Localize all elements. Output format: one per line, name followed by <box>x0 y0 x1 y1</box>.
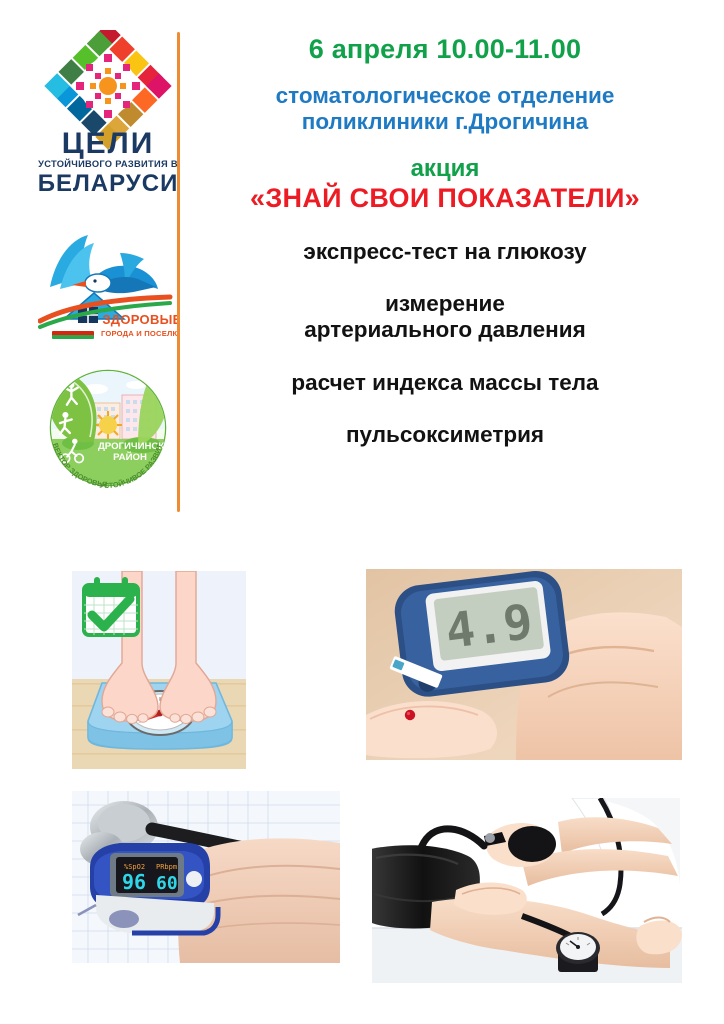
poster-text-column: 6 апреля 10.00-11.00 стоматологическое о… <box>190 34 700 448</box>
poster-page: ЦЕЛИ УСТОЙЧИВОГО РАЗВИТИЯ В БЕЛАРУСИ <box>0 0 724 1024</box>
logo-healthy-cities: ЗДОРОВЫЕ ГОРОДА И ПОСЕЛКИ <box>38 223 178 343</box>
venue-line-2: поликлиники г.Дрогичина <box>190 109 700 135</box>
logo-sdg-title-3: БЕЛАРУСИ <box>38 170 178 195</box>
vertical-divider <box>177 32 180 512</box>
sdg-belarus-emblem: ЦЕЛИ УСТОЙЧИВОГО РАЗВИТИЯ В БЕЛАРУСИ <box>38 30 178 195</box>
oximeter-pulse-value: 60 <box>156 873 178 894</box>
stork-icon <box>50 235 158 293</box>
oximeter-pulse-label: PRbpm <box>156 863 177 871</box>
photo-glucometer: 4.9 <box>366 569 682 760</box>
logo-region-title-2: РАЙОН <box>113 451 147 463</box>
logo-region-title-1: ДРОГИЧИНСКИЙ <box>98 440 178 452</box>
service-bp-line-1: измерение <box>190 291 700 317</box>
venue-line-1: стоматологическое отделение <box>190 83 700 109</box>
calendar-check-icon <box>84 577 138 635</box>
logo-healthy-title-2: ГОРОДА И ПОСЕЛКИ <box>101 329 178 338</box>
photo-grid: 4.9 <box>0 555 724 1024</box>
event-datetime: 6 апреля 10.00-11.00 <box>190 34 700 66</box>
service-oximetry: пульсоксиметрия <box>190 422 700 448</box>
glucometer-reading: 4.9 <box>443 594 536 660</box>
action-title: «ЗНАЙ СВОИ ПОКАЗАТЕЛИ» <box>190 183 700 215</box>
logo-sdg-title-1: ЦЕЛИ <box>62 127 155 160</box>
photo-pulse-oximeter: %SpO2 PRbpm 96 60 <box>72 791 340 963</box>
healthy-cities-emblem: ЗДОРОВЫЕ ГОРОДА И ПОСЕЛКИ <box>38 223 178 343</box>
action-label: акция <box>190 155 700 183</box>
photo-bmi-scale <box>72 571 246 769</box>
service-bmi: расчет индекса массы тела <box>190 370 700 396</box>
photo-blood-pressure <box>372 798 682 983</box>
poster-header: ЦЕЛИ УСТОЙЧИВОГО РАЗВИТИЯ В БЕЛАРУСИ <box>0 0 724 555</box>
logo-column: ЦЕЛИ УСТОЙЧИВОГО РАЗВИТИЯ В БЕЛАРУСИ <box>38 30 178 540</box>
service-glucose: экспресс-тест на глюкозу <box>190 239 700 265</box>
logo-drogichin-district: ДРОГИЧИНСКИЙ РАЙОН ВЕКТОР ЗДОРОВЬЯ УСТОЙ… <box>38 363 178 493</box>
logo-healthy-title-1: ЗДОРОВЫЕ <box>102 312 178 327</box>
drogichin-emblem: ДРОГИЧИНСКИЙ РАЙОН ВЕКТОР ЗДОРОВЬЯ УСТОЙ… <box>38 363 178 493</box>
service-bp-line-2: артериального давления <box>190 317 700 343</box>
logo-sdg-belarus: ЦЕЛИ УСТОЙЧИВОГО РАЗВИТИЯ В БЕЛАРУСИ <box>38 30 178 195</box>
logo-sdg-title-2: УСТОЙЧИВОГО РАЗВИТИЯ В <box>38 158 178 169</box>
oximeter-spo2-value: 96 <box>122 870 146 894</box>
